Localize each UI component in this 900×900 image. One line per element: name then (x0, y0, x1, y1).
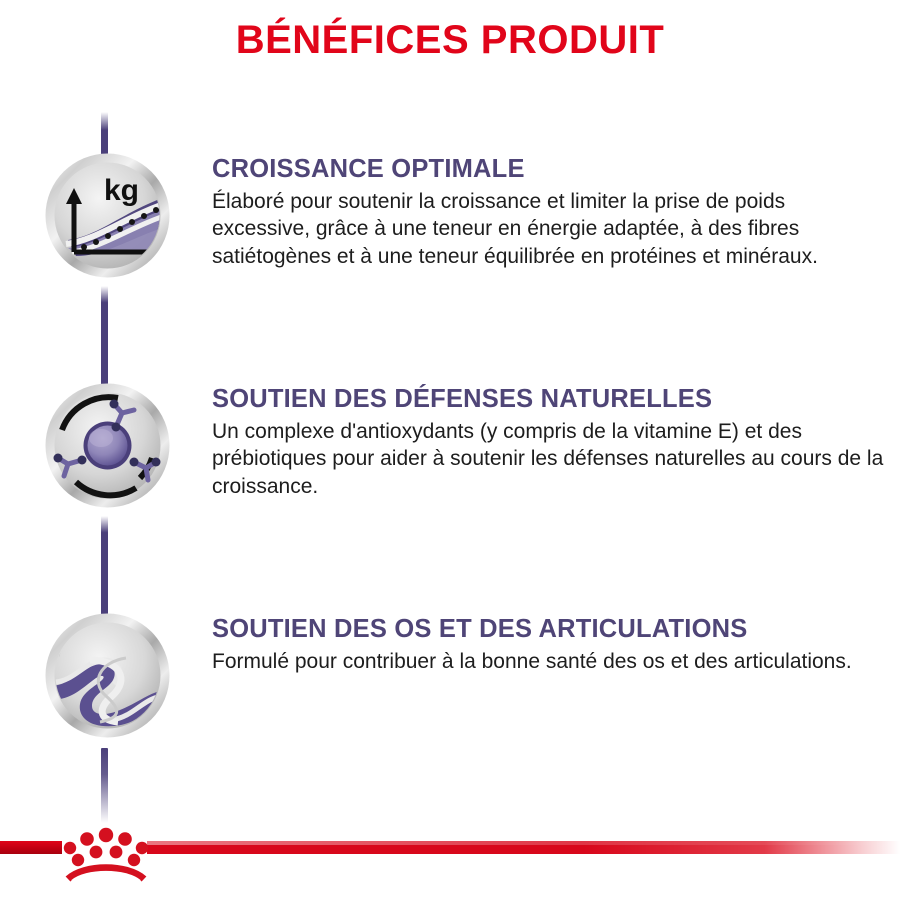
benefit-heading: CROISSANCE OPTIMALE (212, 156, 884, 183)
red-rule-left (0, 841, 62, 854)
growth-weight-kg-icon: kg (44, 152, 171, 279)
footer-brand-bar (0, 820, 900, 900)
product-benefits-panel: BÉNÉFICES PRODUIT (0, 0, 900, 900)
benefit-text-block: SOUTIEN DES DÉFENSES NATURELLES Un compl… (212, 386, 884, 501)
benefit-text-block: SOUTIEN DES OS ET DES ARTICULATIONS Form… (212, 616, 884, 675)
benefit-text-block: CROISSANCE OPTIMALE Élaboré pour souteni… (212, 156, 884, 271)
benefit-heading: SOUTIEN DES OS ET DES ARTICULATIONS (212, 616, 884, 643)
benefit-description: Élaboré pour soutenir la croissance et l… (212, 188, 884, 271)
benefit-description: Un complexe d'antioxydants (y compris de… (212, 418, 884, 501)
page-title: BÉNÉFICES PRODUIT (0, 18, 900, 63)
connector-rail-bottom (101, 748, 108, 823)
royal-canin-crown-logo (58, 820, 154, 882)
benefit-heading: SOUTIEN DES DÉFENSES NATURELLES (212, 386, 884, 413)
bone-joint-icon (44, 612, 171, 739)
svg-text:kg: kg (104, 174, 139, 207)
red-rule-right (147, 841, 900, 854)
natural-defences-antibody-icon (44, 382, 171, 509)
benefit-description: Formulé pour contribuer à la bonne santé… (212, 648, 884, 676)
